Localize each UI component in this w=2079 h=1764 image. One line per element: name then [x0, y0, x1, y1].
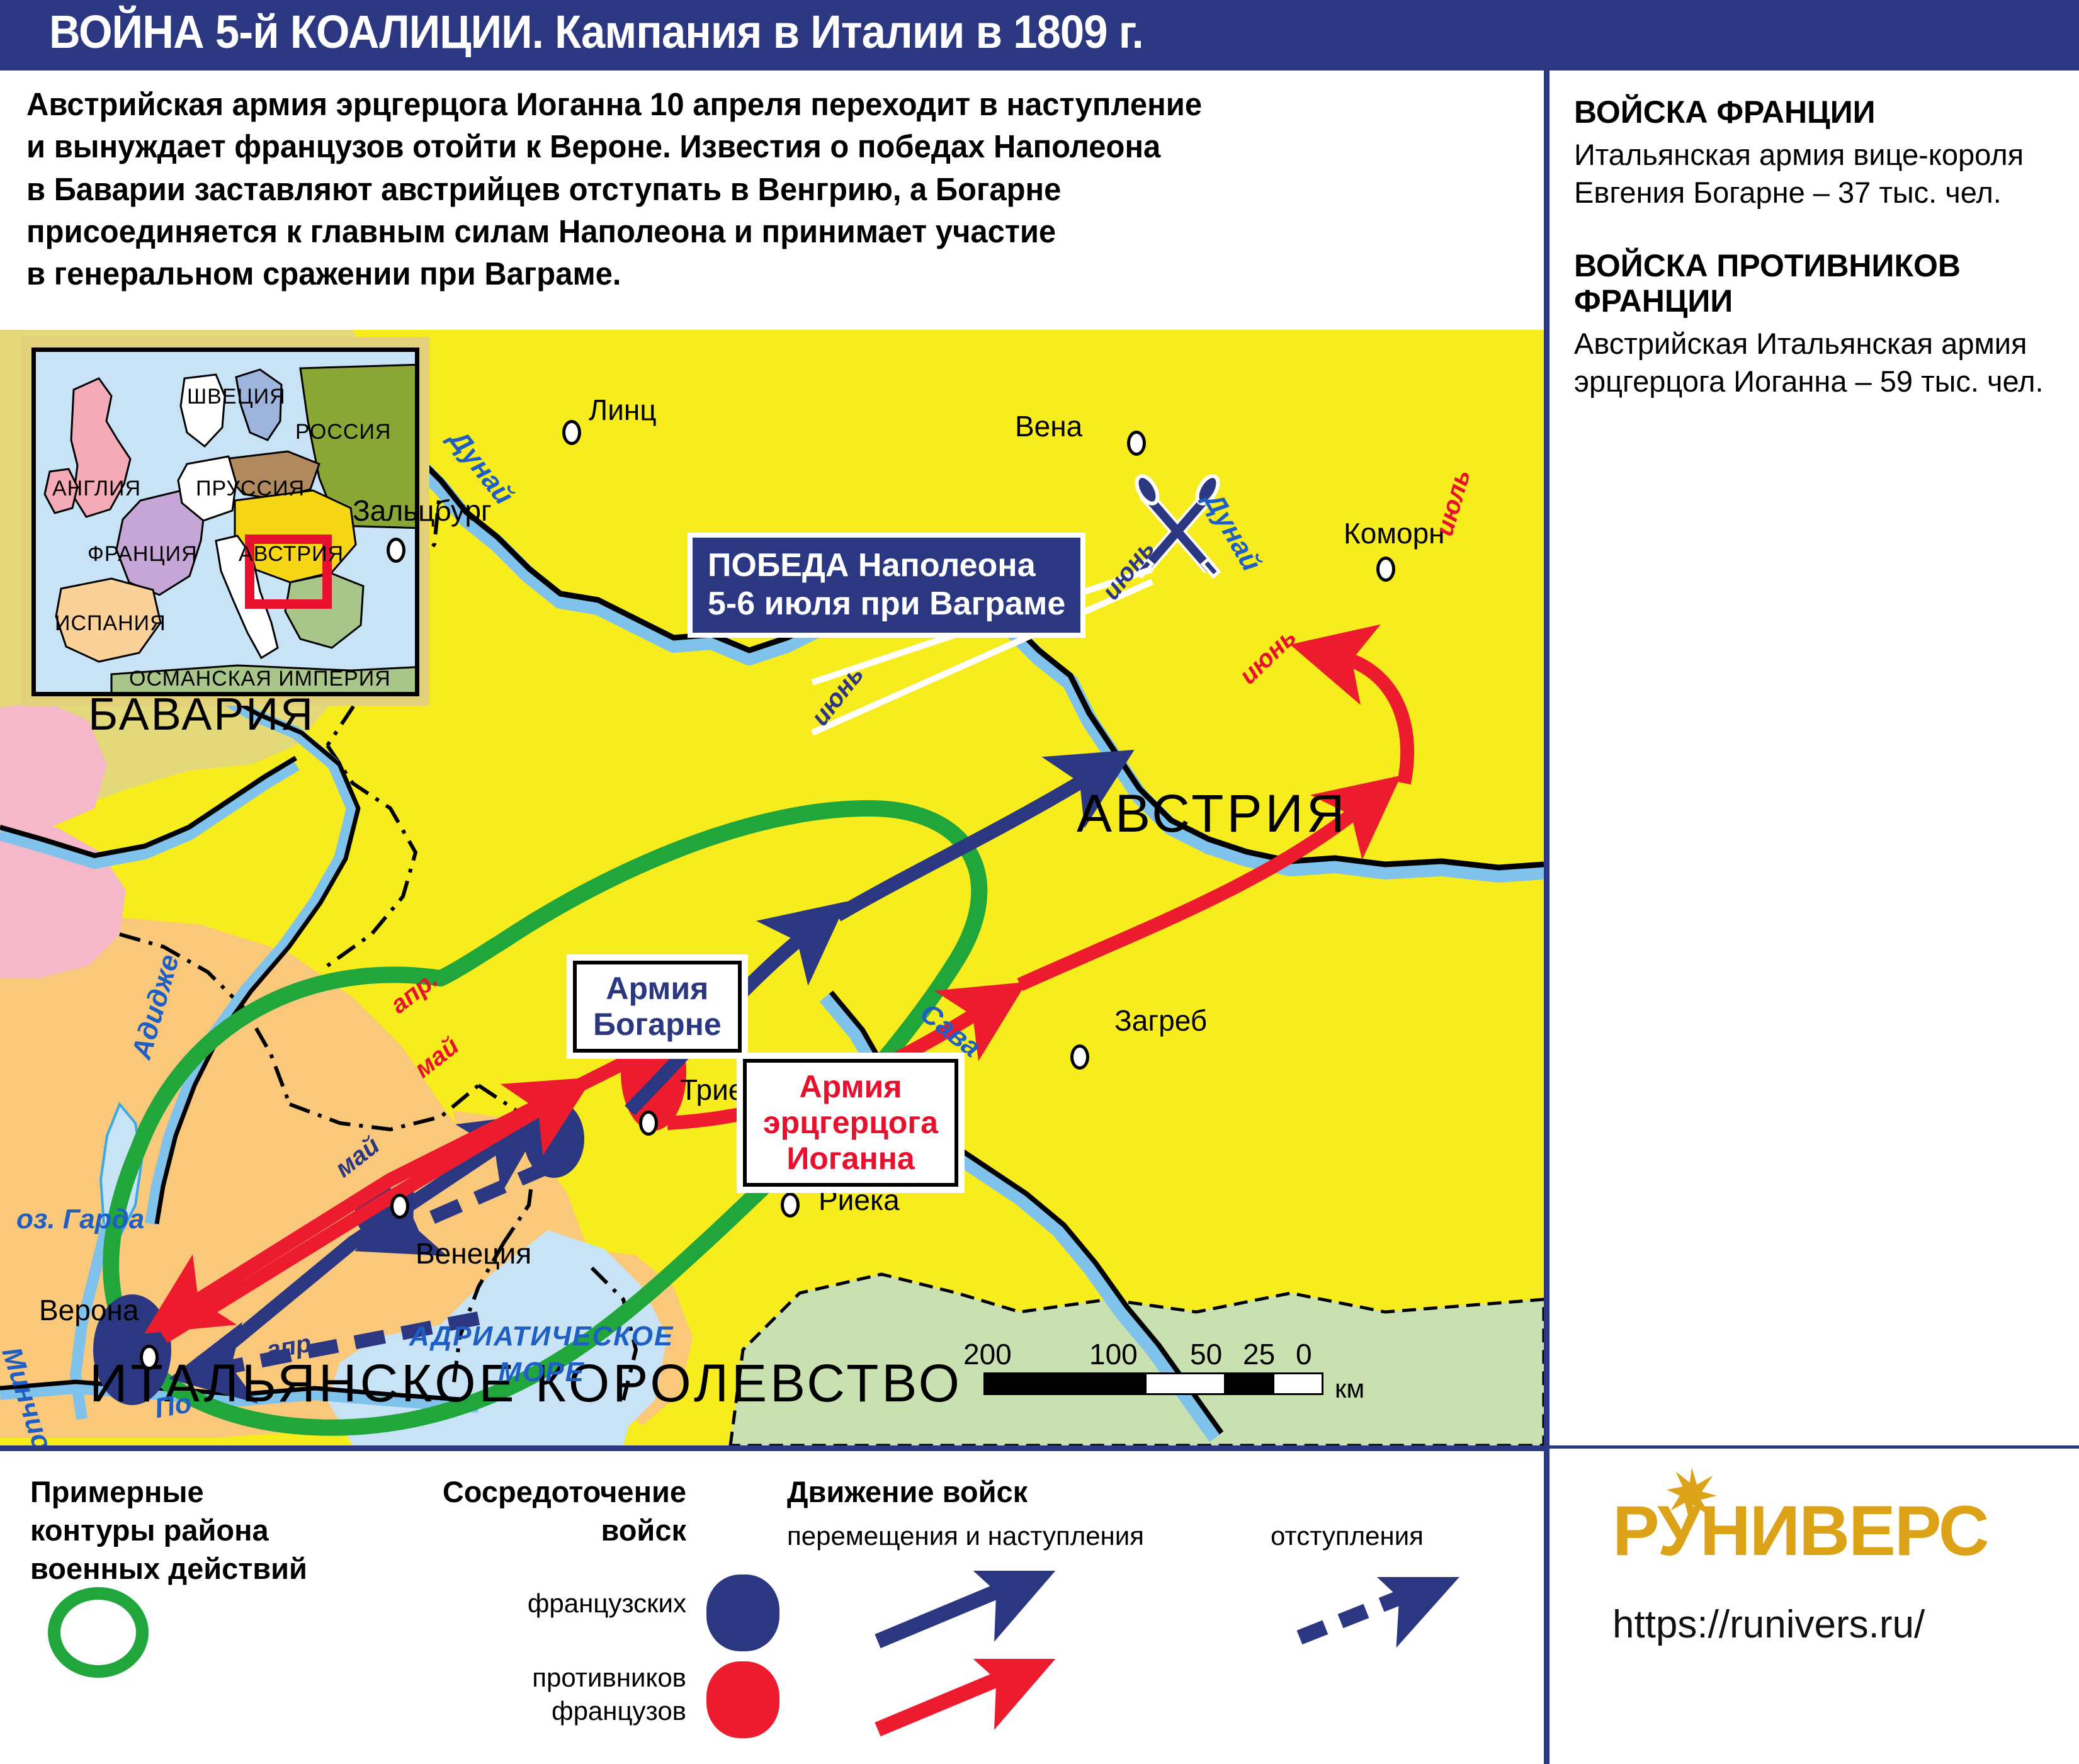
intro-line-3: в Баварии заставляют австрийцев отступат… — [26, 168, 1465, 210]
city-dot-komorn — [1376, 557, 1395, 582]
page-header: ВОЙНА 5-й КОАЛИЦИИ. Кампания в Италии в … — [0, 0, 2079, 71]
enemy-forces-text: Австрийская Итальянская армия эрцгерцога… — [1574, 325, 2065, 400]
scale-bar-body — [983, 1372, 1323, 1395]
france-forces-text: Итальянская армия вице-короля Евгения Бо… — [1574, 136, 2065, 212]
legend-french-blob-icon — [706, 1575, 779, 1651]
map-bottom-divider — [0, 1445, 1544, 1451]
vertical-divider — [1544, 71, 1549, 1764]
inset-label-france: ФРАНЦИЯ — [88, 542, 198, 567]
brand-logo-text: РУНИВЕРС — [1612, 1490, 1988, 1571]
legend-movement-advance-label: перемещения и наступления — [787, 1519, 1144, 1554]
inset-label-spain: ИСПАНИЯ — [55, 611, 166, 636]
city-dot-rijeka — [781, 1192, 800, 1218]
city-dot-vienna — [1127, 431, 1146, 456]
intro-line-4: присоединяется к главным силам Наполеона… — [26, 210, 1465, 252]
scale-tick-0: 0 — [1296, 1337, 1312, 1371]
inset-label-england: АНГЛИЯ — [52, 477, 141, 501]
legend-enemy-blob-icon — [706, 1661, 779, 1738]
inset-label-prussia: ПРУССИЯ — [196, 477, 305, 501]
city-dot-linz — [562, 420, 581, 445]
sidebar-bottom-divider — [1549, 1445, 2079, 1449]
scale-unit-label: км — [1335, 1374, 1364, 1404]
legend-area-title: Примерные контуры района военных действи… — [30, 1473, 307, 1588]
city-dot-salzburg — [387, 538, 405, 563]
legend-movement-retreat-label: отступления — [1271, 1519, 1424, 1554]
enemy-forces-heading: ВОЙСКА ПРОТИВНИКОВ ФРАНЦИИ — [1574, 248, 2065, 319]
callout-army-beauharnais[interactable]: Армия Богарне — [573, 961, 742, 1053]
campaign-map[interactable]: ШВЕЦИЯ РОССИЯ АНГЛИЯ ПРУССИЯ ФРАНЦИЯ АВС… — [0, 330, 1544, 1445]
map-legend: Примерные контуры района военных действи… — [0, 1451, 1544, 1764]
intro-line-2: и вынуждает французов отойти к Вероне. И… — [26, 125, 1465, 167]
legend-movement-title: Движение войск — [787, 1473, 1028, 1511]
callout-wagram-victory[interactable]: ПОБЕДА Наполеона 5-6 июля при Ваграме — [688, 533, 1085, 638]
scale-tick-25: 25 — [1243, 1337, 1275, 1371]
legend-concentration-enemy-label: противников французов — [378, 1661, 686, 1727]
inset-label-ottoman: ОСМАНСКАЯ ИМПЕРИЯ — [129, 667, 391, 691]
legend-blue-retreat-arrow-icon — [1291, 1577, 1480, 1665]
europe-inset-map[interactable]: ШВЕЦИЯ РОССИЯ АНГЛИЯ ПРУССИЯ ФРАНЦИЯ АВС… — [21, 337, 429, 706]
intro-paragraph: Австрийская армия эрцгерцога Иоганна 10 … — [26, 83, 1465, 295]
callout-army-archduke-johann[interactable]: Армия эрцгерцога Иоганна — [743, 1059, 958, 1187]
france-forces-heading: ВОЙСКА ФРАНЦИИ — [1574, 94, 2065, 130]
city-dot-zagreb — [1070, 1044, 1089, 1070]
legend-concentration-title: Сосредоточение войск — [434, 1473, 686, 1549]
page-title: ВОЙНА 5-й КОАЛИЦИИ. Кампания в Италии в … — [49, 5, 1143, 59]
legend-concentration-french-label: французских — [378, 1587, 686, 1620]
city-dot-verona — [140, 1345, 159, 1370]
legend-area-outline-icon — [42, 1585, 155, 1679]
intro-line-5: в генеральном сражении при Ваграме. — [26, 252, 1465, 295]
city-dot-venice — [390, 1194, 409, 1219]
legend-blue-advance-arrow-icon — [869, 1571, 1070, 1665]
brand-block[interactable]: РУНИВЕРС https://runivers.ru/ — [1549, 1451, 2079, 1764]
brand-url-text[interactable]: https://runivers.ru/ — [1612, 1602, 1925, 1647]
intro-line-1: Австрийская армия эрцгерцога Иоганна 10 … — [26, 83, 1465, 125]
forces-sidebar: ВОЙСКА ФРАНЦИИ Итальянская армия вице-ко… — [1574, 94, 2065, 438]
scale-tick-100: 100 — [1089, 1337, 1138, 1371]
inset-label-sweden: ШВЕЦИЯ — [187, 385, 286, 409]
inset-label-russia: РОССИЯ — [295, 420, 391, 444]
city-dot-trieste — [639, 1111, 658, 1136]
scale-tick-50: 50 — [1190, 1337, 1222, 1371]
map-scale-bar: 200 100 50 25 0 км — [963, 1337, 1366, 1395]
inset-label-austria: АВСТРИЯ — [239, 542, 344, 567]
scale-tick-200: 200 — [963, 1337, 1012, 1371]
legend-red-advance-arrow-icon — [869, 1659, 1070, 1753]
